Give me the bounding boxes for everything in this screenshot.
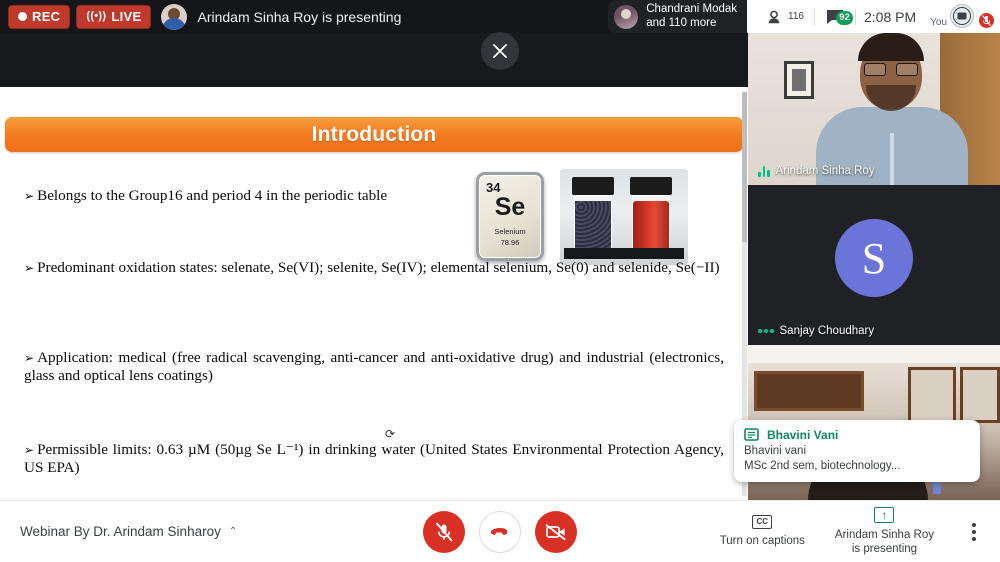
active-speaker-names: Chandrani Modak and 110 more <box>646 3 737 29</box>
camera-off-button[interactable] <box>535 511 577 553</box>
active-speaker-avatar <box>614 5 638 29</box>
closed-captions-icon: CC <box>752 515 772 529</box>
video-tile-name: Arindam Sinha Roy <box>776 165 875 177</box>
element-atomic-mass: 78.96 <box>501 238 520 247</box>
recording-label: REC <box>32 9 60 24</box>
hang-up-icon <box>490 526 510 538</box>
chevron-up-icon: ⌃ <box>229 526 237 537</box>
element-symbol: Se <box>495 193 526 222</box>
live-badge: ((•)) LIVE <box>76 5 151 29</box>
slide-title-banner: Introduction <box>5 117 743 152</box>
chat-toast-line-2: MSc 2nd sem, biotechnology... <box>744 460 970 472</box>
present-screen-icon: ↑ <box>874 507 894 523</box>
chat-unread-badge: 92 <box>836 11 853 25</box>
avatar-body-shape <box>162 18 186 30</box>
presenting-label-line1: Arindam Sinha Roy <box>835 529 934 541</box>
chat-toast-header: Bhavini Vani <box>744 428 970 442</box>
slide-bullet-2-text: Predominant oxidation states: selenate, … <box>37 259 720 276</box>
presenting-label: Arindam Sinha Roy is presenting <box>835 528 934 557</box>
slide-bullet-2: ➢Predominant oxidation states: selenate,… <box>24 259 724 277</box>
people-icon <box>767 9 787 25</box>
close-icon <box>493 44 507 58</box>
avatar: S <box>835 219 913 297</box>
video-tile-arindam[interactable]: Arindam Sinha Roy <box>748 33 1000 185</box>
participant-count: 116 <box>788 11 804 22</box>
shared-slide[interactable]: Introduction 34 Se Selenium 78.96 <box>0 87 748 500</box>
bullet-marker-icon: ➢ <box>24 189 34 203</box>
chat-toast-line-1: Bhavini vani <box>744 445 970 457</box>
meeting-name-label: Webinar By Dr. Arindam Sinharoy <box>20 524 221 539</box>
chat-icon <box>744 428 759 442</box>
clock-label: 2:08 PM <box>856 9 924 25</box>
selenium-vials-photo <box>560 169 688 265</box>
selenium-images: 34 Se Selenium 78.96 <box>476 169 688 265</box>
present-now-button[interactable]: ↑ Arindam Sinha Roy is presenting <box>835 507 934 557</box>
periodic-element-tile: 34 Se Selenium 78.96 <box>476 172 544 261</box>
video-tile-sanjay[interactable]: S Sanjay Choudhary <box>748 185 1000 345</box>
bullet-marker-icon: ➢ <box>24 351 34 365</box>
presenting-status-text: Arindam Sinha Roy is presenting <box>197 9 401 25</box>
meet-info-cluster: 116 92 2:08 PM You <box>747 0 1000 33</box>
top-status-bar: REC ((•)) LIVE Arindam Sinha Roy is pres… <box>0 0 1000 33</box>
record-dot-icon <box>18 12 27 21</box>
mouse-cursor-icon: ⟳ <box>385 427 395 442</box>
grey-selenium-vial <box>570 177 616 257</box>
presenter-avatar <box>161 4 187 30</box>
red-selenium-vial <box>628 177 674 257</box>
presenting-label-line2: is presenting <box>852 543 917 555</box>
end-call-button[interactable] <box>479 511 521 553</box>
captions-label: Turn on captions <box>720 534 805 548</box>
presentation-stage-backdrop <box>0 33 748 87</box>
mic-off-icon <box>435 522 453 542</box>
chat-button[interactable]: 92 <box>815 8 855 26</box>
google-meet-window: REC ((•)) LIVE Arindam Sinha Roy is pres… <box>0 0 1000 562</box>
video-off-icon <box>545 523 567 541</box>
element-name: Selenium <box>494 227 525 236</box>
turn-on-captions-button[interactable]: CC Turn on captions <box>720 515 805 548</box>
bottom-control-bar: Webinar By Dr. Arindam Sinharoy ⌃ <box>0 500 1000 562</box>
video-tile-name-row: Arindam Sinha Roy <box>758 165 875 177</box>
speaking-indicator-icon <box>758 166 770 177</box>
meeting-details-button[interactable]: Webinar By Dr. Arindam Sinharoy ⌃ <box>20 524 237 539</box>
recording-badge: REC <box>8 5 70 29</box>
slide-bullet-4-text: Permissible limits: 0.63 µM (50µg Se L⁻¹… <box>24 441 724 476</box>
slide-body: 34 Se Selenium 78.96 ➢Belongs to the Gr <box>0 159 748 500</box>
slide-bullet-3-text: Application: medical (free radical scave… <box>24 349 724 384</box>
chat-toast-sender: Bhavini Vani <box>767 428 838 442</box>
bullet-marker-icon: ➢ <box>24 443 34 457</box>
slide-bullet-4: ➢Permissible limits: 0.63 µM (50µg Se L⁻… <box>24 441 724 476</box>
close-presentation-button[interactable] <box>481 32 519 70</box>
participants-button[interactable]: 116 <box>757 9 814 25</box>
video-tile-name-row: Sanjay Choudhary <box>758 325 874 337</box>
self-muted-icon <box>979 13 994 28</box>
muted-dots-icon <box>758 329 774 333</box>
bottom-right-controls: CC Turn on captions ↑ Arindam Sinha Roy … <box>720 507 984 557</box>
self-avatar <box>950 4 974 28</box>
microphone-off-button[interactable] <box>423 511 465 553</box>
slide-bullet-1-text: Belongs to the Group16 and period 4 in t… <box>37 187 387 204</box>
video-tile-name: Sanjay Choudhary <box>780 325 875 337</box>
slide-bullet-3: ➢Application: medical (free radical scav… <box>24 349 724 384</box>
bullet-marker-icon: ➢ <box>24 261 34 275</box>
self-indicator: You <box>924 4 994 29</box>
active-speaker-pill[interactable]: Chandrani Modak and 110 more <box>608 0 747 33</box>
live-label: LIVE <box>111 9 141 24</box>
broadcast-icon: ((•)) <box>86 11 106 22</box>
call-controls <box>423 511 577 553</box>
more-options-button[interactable] <box>964 517 984 547</box>
you-label: You <box>930 17 947 28</box>
slide-bullet-1: ➢Belongs to the Group16 and period 4 in … <box>24 187 454 205</box>
active-speaker-name: Chandrani Modak <box>646 3 737 16</box>
active-speaker-more: and 110 more <box>646 17 737 30</box>
chat-notification-toast[interactable]: Bhavini Vani Bhavini vani MSc 2nd sem, b… <box>734 420 980 482</box>
element-atomic-number: 34 <box>486 180 500 195</box>
slide-title: Introduction <box>312 123 437 147</box>
